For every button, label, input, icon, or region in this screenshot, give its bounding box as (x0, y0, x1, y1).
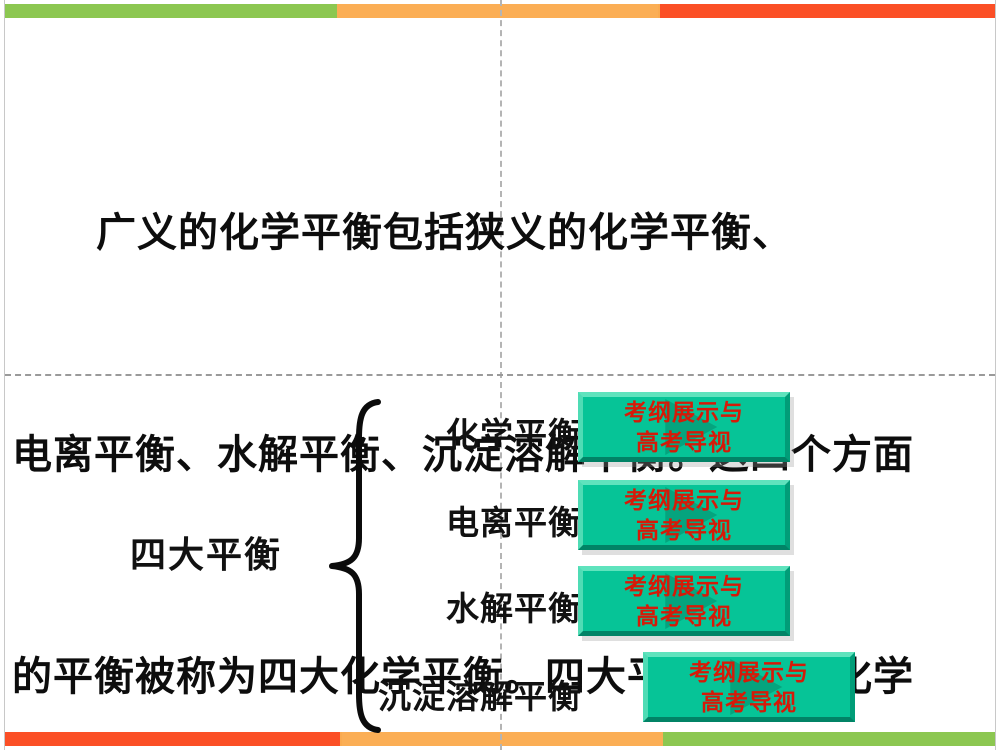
top-bar-segment-green (5, 4, 337, 18)
button-label-1: 考纲展示与 高考导视 (583, 397, 785, 458)
button-label-1-line1: 考纲展示与 (624, 399, 744, 426)
branch-label-ionization-equilibrium: 电离平衡 (330, 496, 582, 544)
button-label-4-line2: 高考导视 (648, 688, 850, 718)
button-label-3: 考纲展示与 高考导视 (583, 571, 785, 632)
slide-canvas: 广义的化学平衡包括狭义的化学平衡、 电离平衡、水解平衡、沉淀溶解平衡。这四个方面… (0, 0, 1000, 750)
button-label-4: 考纲展示与 高考导视 (648, 657, 850, 718)
button-label-2-line1: 考纲展示与 (624, 487, 744, 514)
exam-outline-video-button-4[interactable]: 考纲展示与 高考导视 (643, 652, 855, 722)
button-label-3-line2: 高考导视 (583, 602, 785, 632)
button-label-4-line1: 考纲展示与 (689, 659, 809, 686)
button-label-2: 考纲展示与 高考导视 (583, 485, 785, 546)
exam-outline-video-button-2[interactable]: 考纲展示与 高考导视 (578, 480, 790, 550)
top-bar-segment-red (660, 4, 995, 18)
diagram-root-label: 四大平衡 (130, 526, 282, 578)
button-label-1-line2: 高考导视 (583, 428, 785, 458)
exam-outline-video-button-3[interactable]: 考纲展示与 高考导视 (578, 566, 790, 636)
paragraph-line-1: 广义的化学平衡包括狭义的化学平衡、 (12, 196, 970, 270)
branch-label-chemical-equilibrium: 化学平衡 (330, 408, 582, 456)
button-label-2-line2: 高考导视 (583, 516, 785, 546)
branch-label-group: 化学平衡 电离平衡 水解平衡 沉淀溶解平衡 (330, 374, 582, 750)
button-label-3-line1: 考纲展示与 (624, 573, 744, 600)
top-bar-segment-light-orange (337, 4, 659, 18)
branch-label-hydrolysis-equilibrium: 水解平衡 (330, 582, 582, 630)
branch-label-precipitation-dissolution-equilibrium: 沉淀溶解平衡 (330, 670, 582, 718)
exam-outline-video-button-1[interactable]: 考纲展示与 高考导视 (578, 392, 790, 462)
